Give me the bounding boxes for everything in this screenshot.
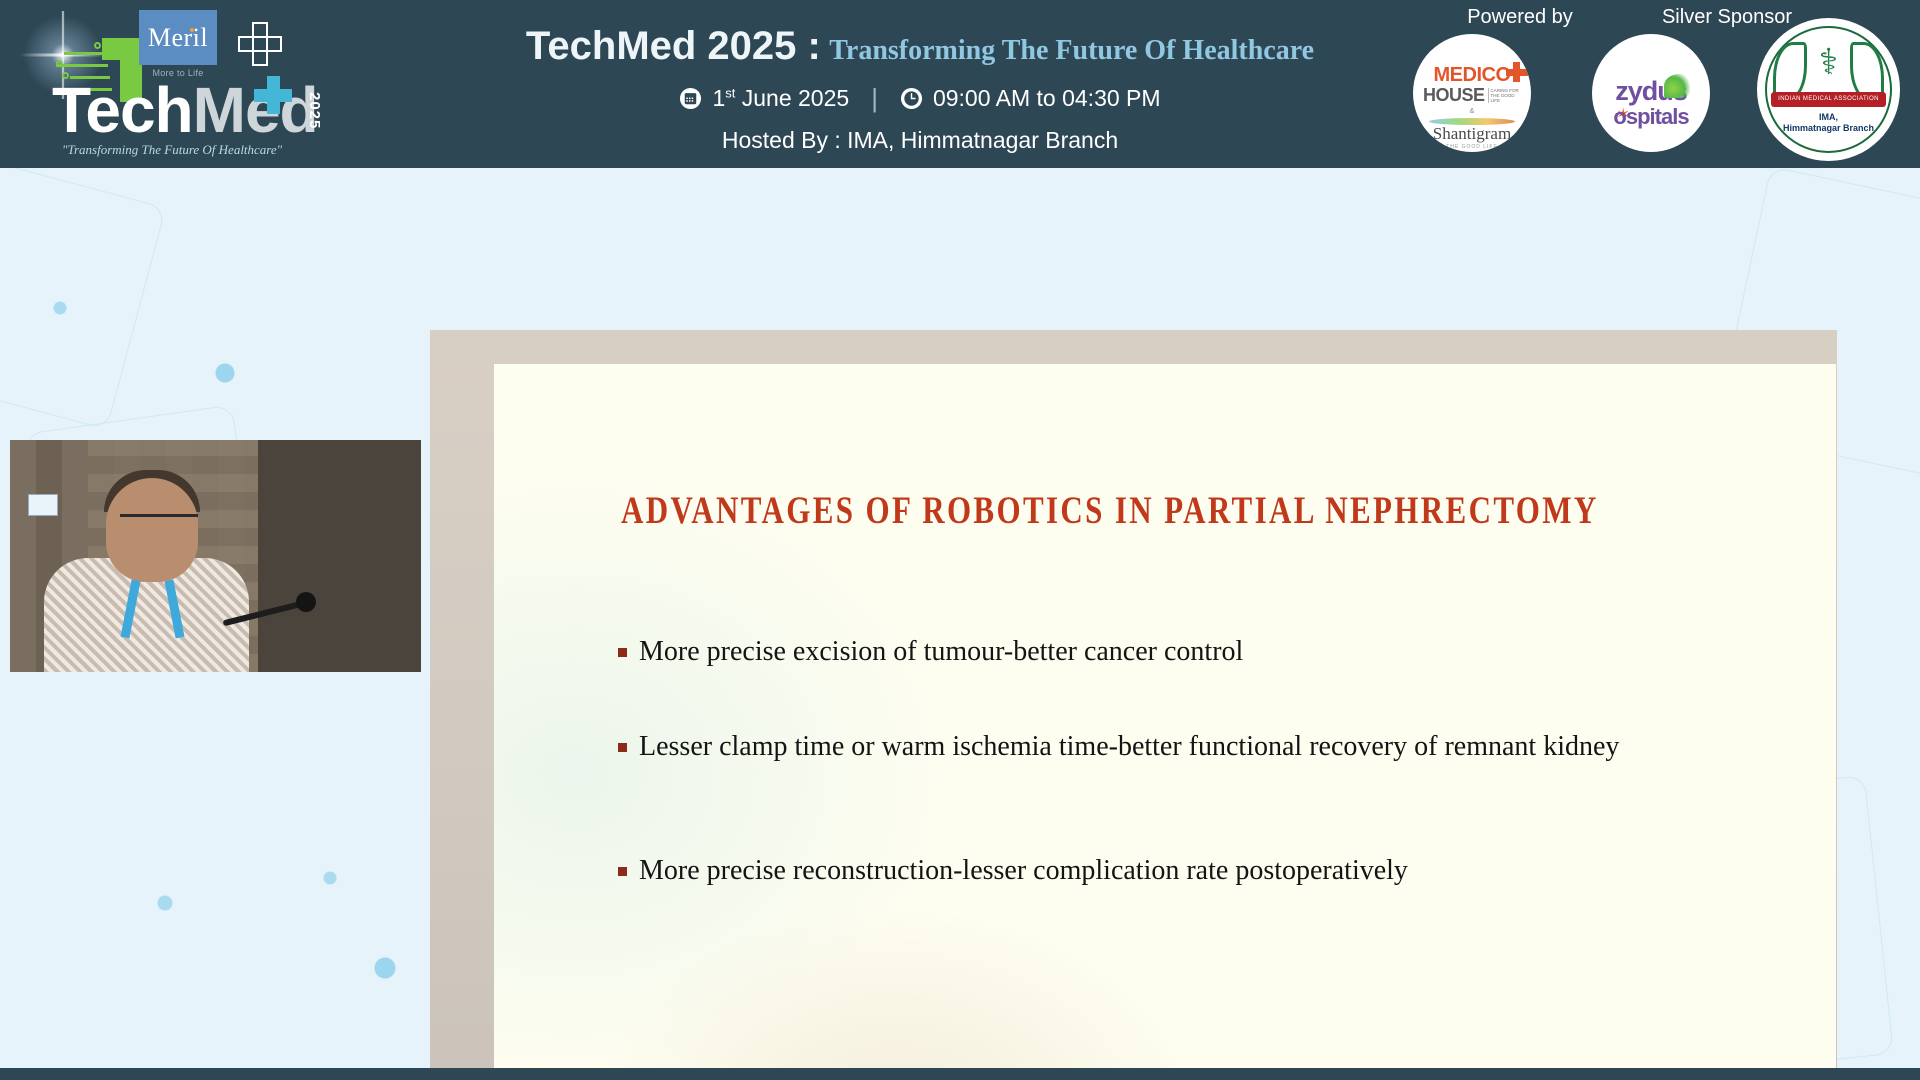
bullet-text: Lesser clamp time or warm ischemia time-… <box>639 729 1619 765</box>
zydus-hospitals-wordmark: ospitals <box>1592 104 1710 130</box>
techmed-plus-icon <box>254 76 292 114</box>
presentation-stage: ADVANTAGES OF ROBOTICS IN PARTIAL NEPHRE… <box>0 168 1920 1068</box>
speaker-video-tile[interactable] <box>10 440 421 672</box>
slide-glow-overlay <box>494 364 1836 1068</box>
zydus-leaf-icon <box>1664 74 1694 98</box>
event-title-main: TechMed 2025 : <box>526 24 821 68</box>
powered-by-label: Powered by <box>1410 6 1630 29</box>
calendar-icon <box>679 87 702 110</box>
shantigram-wordmark: Shantigram <box>1413 124 1531 144</box>
ampersand-label: & <box>1413 108 1531 115</box>
techmed-brand-logo: Meril More to Life TechMed 2025 "Transfo… <box>0 0 430 168</box>
bullet-text: More precise excision of tumour-better c… <box>639 634 1243 670</box>
medical-plus-outline-icon <box>238 22 282 66</box>
clock-icon <box>900 87 923 110</box>
brand-tagline: "Transforming The Future Of Healthcare" <box>62 142 282 158</box>
slide-bullet-2: Lesser clamp time or warm ischemia time-… <box>618 729 1738 765</box>
ima-banner: INDIAN MEDICAL ASSOCIATION <box>1771 92 1886 107</box>
slide-content-area[interactable]: ADVANTAGES OF ROBOTICS IN PARTIAL NEPHRE… <box>494 364 1836 1068</box>
bullet-square-icon <box>618 743 627 752</box>
meril-logo-box: Meril <box>139 10 217 65</box>
slide-bullet-3: More precise reconstruction-lesser compl… <box>618 853 1738 889</box>
bullet-text: More precise reconstruction-lesser compl… <box>639 853 1408 889</box>
event-title-block: TechMed 2025 : Transforming The Future O… <box>440 0 1400 168</box>
zydus-hospitals-logo: zydus ✶ ospitals <box>1592 34 1710 152</box>
ima-name-line2: Himmatnagar Branch <box>1783 123 1874 133</box>
footer-bar <box>0 1068 1920 1080</box>
house-wordmark: HOUSE <box>1423 85 1485 106</box>
ima-name: IMA, Himmatnagar Branch <box>1757 112 1900 134</box>
slide-bullet-1: More precise excision of tumour-better c… <box>618 634 1738 670</box>
meta-separator: | <box>871 83 878 114</box>
event-title-sub: Transforming The Future Of Healthcare <box>829 35 1314 66</box>
event-title-line: TechMed 2025 : Transforming The Future O… <box>440 24 1400 69</box>
meril-dot-icon <box>190 28 194 32</box>
event-meta-line: 1st June 2025 | 09:00 AM to 04:30 PM <box>440 83 1400 114</box>
medico-cross-icon <box>1506 62 1528 82</box>
event-time: 09:00 AM to 04:30 PM <box>933 85 1161 112</box>
ima-himmatnagar-logo: ⚕ INDIAN MEDICAL ASSOCIATION IMA, Himmat… <box>1757 18 1900 161</box>
slide-title: ADVANTAGES OF ROBOTICS IN PARTIAL NEPHRE… <box>621 490 1599 534</box>
ima-banner-text: INDIAN MEDICAL ASSOCIATION <box>1771 92 1886 107</box>
wordmark-tech: Tech <box>52 74 193 146</box>
event-date: 1st June 2025 <box>712 85 849 112</box>
event-header-bar: Meril More to Life TechMed 2025 "Transfo… <box>0 0 1920 168</box>
techmed-year: 2025 <box>306 92 323 129</box>
medico-tagline: CARING FORTHE GOOD LIFE <box>1488 88 1521 104</box>
caduceus-icon: ⚕ <box>1757 44 1900 80</box>
bullet-square-icon <box>618 867 627 876</box>
medico-house-shantigram-logo: MEDICO HOUSE CARING FORTHE GOOD LIFE & S… <box>1413 34 1531 152</box>
bullet-square-icon <box>618 648 627 657</box>
shantigram-tagline: THE GOOD LIFE <box>1413 144 1531 150</box>
meril-wordmark: Meril <box>139 23 217 53</box>
event-host: Hosted By : IMA, Himmatnagar Branch <box>440 127 1400 154</box>
ima-name-line1: IMA, <box>1819 112 1838 122</box>
